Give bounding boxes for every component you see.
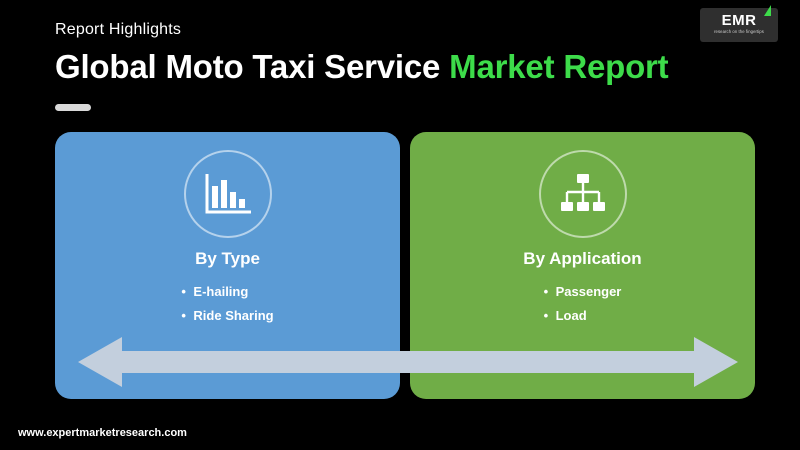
logo-tagline: research on the fingertips bbox=[700, 29, 778, 34]
logo-name: EMR bbox=[700, 12, 778, 29]
title-underline bbox=[55, 104, 91, 111]
card-title-by-application: By Application bbox=[410, 249, 755, 269]
list-item: Load bbox=[544, 304, 622, 328]
page-title-main: Global Moto Taxi Service bbox=[55, 48, 449, 85]
list-item: Ride Sharing bbox=[181, 304, 273, 328]
bar-chart-icon bbox=[184, 150, 272, 238]
eyebrow-label: Report Highlights bbox=[55, 21, 181, 39]
double-headed-arrow bbox=[78, 334, 738, 390]
card-items-by-type: E-hailing Ride Sharing bbox=[55, 280, 400, 328]
card-items-by-application: Passenger Load bbox=[410, 280, 755, 328]
card-title-by-type: By Type bbox=[55, 249, 400, 269]
list-item: Passenger bbox=[544, 280, 622, 304]
org-chart-icon bbox=[539, 150, 627, 238]
page-title-accent: Market Report bbox=[449, 48, 668, 85]
list-item: E-hailing bbox=[181, 280, 273, 304]
footer-url[interactable]: www.expertmarketresearch.com bbox=[18, 427, 187, 439]
emr-logo: EMR research on the fingertips bbox=[700, 8, 778, 42]
page-title: Global Moto Taxi Service Market Report bbox=[55, 48, 668, 86]
